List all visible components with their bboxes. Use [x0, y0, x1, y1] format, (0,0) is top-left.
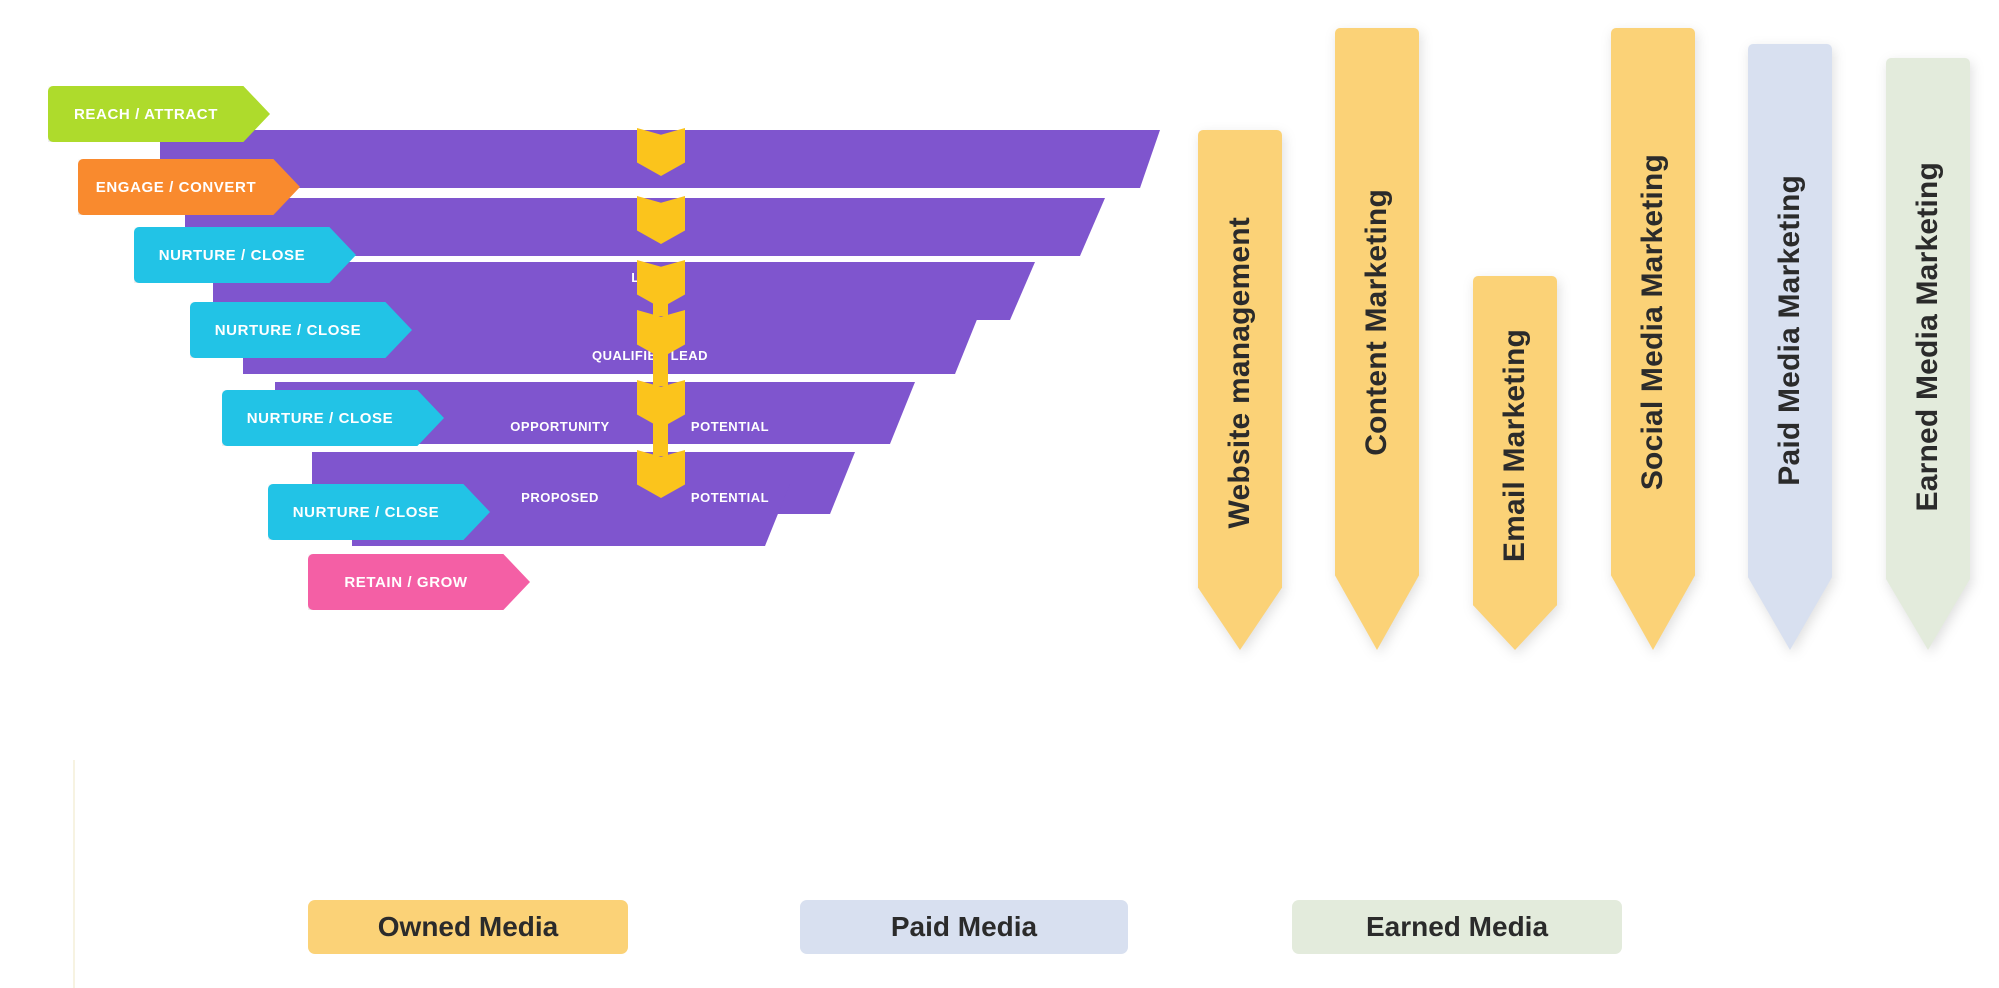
- stage-tag-7[interactable]: RETAIN / GROW: [308, 554, 530, 610]
- channel-label: Paid Media Marketing: [1773, 175, 1807, 486]
- channel-bar-4[interactable]: Social Media Marketing: [1611, 28, 1695, 650]
- channel-label: Social Media Marketing: [1636, 154, 1670, 490]
- stage-tag-label: NURTURE / CLOSE: [134, 247, 356, 264]
- channel-label: Earned Media Marketing: [1911, 162, 1945, 512]
- stage-tag-2[interactable]: ENGAGE / CONVERT: [78, 159, 300, 215]
- stage-tag-5[interactable]: NURTURE / CLOSE: [222, 390, 444, 446]
- funnel-stage-label-left: VISITOR: [622, 185, 677, 200]
- stage-tag-label: NURTURE / CLOSE: [190, 322, 412, 339]
- chevron-connector: [653, 346, 668, 386]
- stage-tag-3[interactable]: NURTURE / CLOSE: [134, 227, 356, 283]
- stage-tag-4[interactable]: NURTURE / CLOSE: [190, 302, 412, 358]
- channel-label: Email Marketing: [1498, 329, 1532, 562]
- stage-tag-label: RETAIN / GROW: [308, 574, 530, 591]
- channel-bar-body: Content Marketing: [1335, 28, 1419, 650]
- stage-tag-6[interactable]: NURTURE / CLOSE: [268, 484, 490, 540]
- channel-label: Content Marketing: [1360, 189, 1394, 456]
- stage-tag-label: NURTURE / CLOSE: [268, 504, 490, 521]
- channel-bar-body: Social Media Marketing: [1611, 28, 1695, 650]
- stage-tag-label: NURTURE / CLOSE: [222, 410, 444, 427]
- legend-chip-1[interactable]: Owned Media: [308, 900, 628, 954]
- funnel-stage-label-right: POTENTIAL: [691, 490, 769, 505]
- channel-label: Website management: [1223, 217, 1257, 528]
- funnel-stage-label-right: SALES: [707, 560, 753, 575]
- legend-chip-3[interactable]: Earned Media: [1292, 900, 1622, 954]
- funnel-diagram-canvas: VISITORLEADQUALIFIED LEADOPPORTUNITYPOTE…: [0, 0, 1999, 988]
- funnel-stage-label-left: OPPORTUNITY: [510, 419, 609, 434]
- funnel-stage-label-left: CUSTOMER: [521, 560, 599, 575]
- channel-bar-body: Website management: [1198, 130, 1282, 650]
- chevron-connector: [653, 416, 668, 456]
- guide-line: [73, 760, 75, 988]
- channel-bar-5[interactable]: Paid Media Marketing: [1748, 44, 1832, 650]
- funnel-stage-label-left: PROPOSED: [521, 490, 599, 505]
- channel-bar-1[interactable]: Website management: [1198, 130, 1282, 650]
- channel-bar-body: Paid Media Marketing: [1748, 44, 1832, 650]
- stage-tag-label: REACH / ATTRACT: [48, 106, 270, 123]
- channel-bar-2[interactable]: Content Marketing: [1335, 28, 1419, 650]
- chevron-connector: [653, 276, 668, 316]
- legend-chip-2[interactable]: Paid Media: [800, 900, 1128, 954]
- channel-bar-body: Earned Media Marketing: [1886, 58, 1970, 650]
- stage-tag-label: ENGAGE / CONVERT: [78, 179, 300, 196]
- channel-bar-body: Email Marketing: [1473, 276, 1557, 650]
- channel-bar-6[interactable]: Earned Media Marketing: [1886, 58, 1970, 650]
- funnel-stage-label-right: POTENTIAL: [691, 419, 769, 434]
- stage-tag-1[interactable]: REACH / ATTRACT: [48, 86, 270, 142]
- channel-bar-3[interactable]: Email Marketing: [1473, 276, 1557, 650]
